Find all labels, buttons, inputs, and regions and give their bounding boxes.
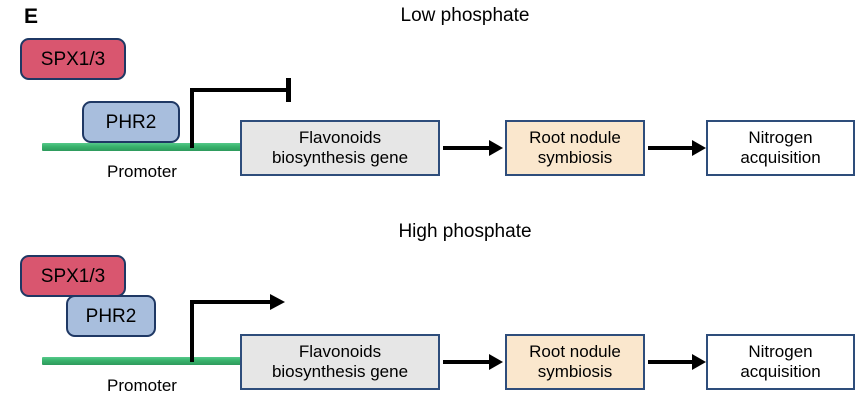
protein-label: PHR2 xyxy=(86,307,137,326)
box-text: Flavonoidsbiosynthesis gene xyxy=(272,128,408,168)
box-root-nodule-symbiosis-high[interactable]: Root nodulesymbiosis xyxy=(505,334,645,390)
box-line-2: symbiosis xyxy=(538,148,613,167)
protein-label: SPX1/3 xyxy=(41,267,105,286)
inhibition-arrow-stem-low xyxy=(190,88,194,148)
promoter-label-low: Promoter xyxy=(62,163,222,180)
box-nitrogen-acquisition-low[interactable]: Nitrogenacquisition xyxy=(706,120,855,176)
box-line-2: biosynthesis gene xyxy=(272,362,408,381)
flow-arrow-symbiosis-to-nitrogen-high xyxy=(648,354,706,370)
box-text: Nitrogenacquisition xyxy=(740,128,820,168)
box-text: Nitrogenacquisition xyxy=(740,342,820,382)
box-flavonoids-gene-high[interactable]: Flavonoidsbiosynthesis gene xyxy=(240,334,440,390)
inhibition-arrow-tbar-low xyxy=(286,78,291,102)
protein-phr2-high[interactable]: PHR2 xyxy=(66,295,156,337)
box-line-2: biosynthesis gene xyxy=(272,148,408,167)
box-text: Root nodulesymbiosis xyxy=(529,128,621,168)
activation-arrow-head-high xyxy=(270,294,285,310)
arrow-head xyxy=(489,140,503,156)
box-root-nodule-symbiosis-low[interactable]: Root nodulesymbiosis xyxy=(505,120,645,176)
protein-label: PHR2 xyxy=(106,113,157,132)
condition-title-low-phosphate: Low phosphate xyxy=(365,6,565,25)
panel-label-e: E xyxy=(24,6,38,27)
inhibition-arrow-arm-low xyxy=(190,88,290,92)
box-line-2: acquisition xyxy=(740,148,820,167)
flow-arrow-gene-to-symbiosis-low xyxy=(443,140,503,156)
box-text: Root nodulesymbiosis xyxy=(529,342,621,382)
flow-arrow-gene-to-symbiosis-high xyxy=(443,354,503,370)
activation-arrow-arm-high xyxy=(190,300,272,304)
box-line-1: Root nodule xyxy=(529,342,621,361)
box-flavonoids-gene-low[interactable]: Flavonoidsbiosynthesis gene xyxy=(240,120,440,176)
promoter-line-high xyxy=(42,357,242,365)
arrow-head xyxy=(692,140,706,156)
protein-phr2-low[interactable]: PHR2 xyxy=(82,101,180,143)
box-line-1: Root nodule xyxy=(529,128,621,147)
box-nitrogen-acquisition-high[interactable]: Nitrogenacquisition xyxy=(706,334,855,390)
flow-arrow-symbiosis-to-nitrogen-low xyxy=(648,140,706,156)
box-text: Flavonoidsbiosynthesis gene xyxy=(272,342,408,382)
arrow-shaft xyxy=(443,146,490,150)
arrow-shaft xyxy=(648,146,693,150)
promoter-label-high: Promoter xyxy=(62,377,222,394)
protein-spx1-3-high[interactable]: SPX1/3 xyxy=(20,255,126,297)
pathway-figure: E Low phosphate SPX1/3 PHR2 Promoter Fla… xyxy=(0,0,865,408)
box-line-1: Nitrogen xyxy=(748,128,812,147)
arrow-head xyxy=(489,354,503,370)
activation-arrow-stem-high xyxy=(190,300,194,362)
protein-label: SPX1/3 xyxy=(41,50,105,69)
condition-title-high-phosphate: High phosphate xyxy=(365,222,565,241)
arrow-shaft xyxy=(443,360,490,364)
arrow-head xyxy=(692,354,706,370)
box-line-2: symbiosis xyxy=(538,362,613,381)
box-line-1: Flavonoids xyxy=(299,128,381,147)
box-line-1: Flavonoids xyxy=(299,342,381,361)
promoter-line-low xyxy=(42,143,242,151)
box-line-2: acquisition xyxy=(740,362,820,381)
arrow-shaft xyxy=(648,360,693,364)
protein-spx1-3-low[interactable]: SPX1/3 xyxy=(20,38,126,80)
box-line-1: Nitrogen xyxy=(748,342,812,361)
